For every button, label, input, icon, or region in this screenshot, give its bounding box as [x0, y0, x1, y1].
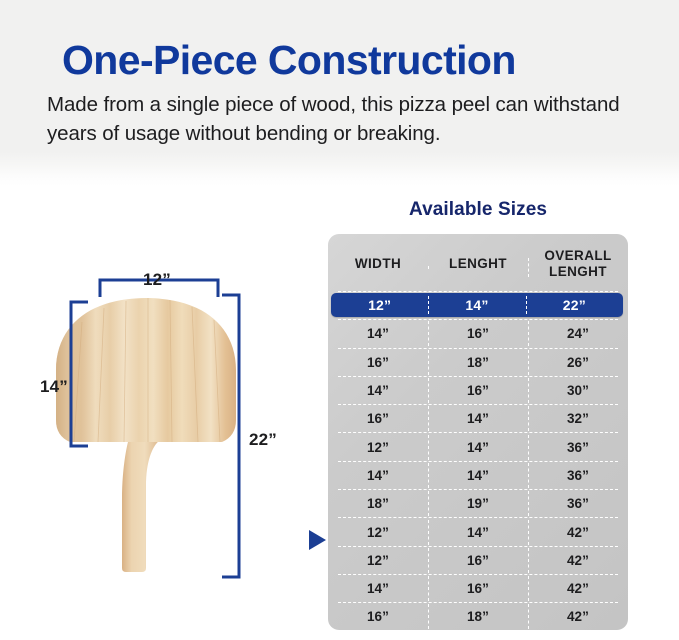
table-row-selected[interactable]: 12” 14” 22” [331, 293, 623, 317]
cell-width: 14” [328, 326, 428, 341]
cell-width: 16” [328, 411, 428, 426]
table-row[interactable]: 16” 18” 26” [328, 349, 628, 376]
cell-length: 16” [428, 581, 528, 596]
available-sizes-title: Available Sizes [328, 199, 628, 221]
table-row-highlight-wrap: 12” 14” 22” [328, 292, 628, 319]
cell-overall: 36” [528, 440, 628, 455]
table-header-row: WIDTH LENGHT OVERALL LENGHT [328, 234, 628, 291]
table-row[interactable]: 18” 19” 36” [328, 490, 628, 517]
sizes-table-card: WIDTH LENGHT OVERALL LENGHT 12” 14” 22” … [328, 234, 628, 630]
cell-overall: 22” [526, 297, 623, 313]
cell-length: 19” [428, 496, 528, 511]
column-header-overall-length: OVERALL LENGHT [528, 248, 628, 278]
product-illustration: 12” 14” 22” [0, 250, 310, 620]
cell-length: 14” [428, 440, 528, 455]
column-header-width: WIDTH [328, 256, 428, 271]
cell-width: 14” [328, 581, 428, 596]
cell-width: 14” [328, 468, 428, 483]
cell-length: 16” [428, 383, 528, 398]
cell-width: 12” [331, 297, 428, 313]
cell-width: 16” [328, 355, 428, 370]
infographic-page: One-Piece Construction Made from a singl… [0, 0, 679, 640]
cell-length: 14” [428, 297, 525, 313]
blade-length-dimension-label: 14” [40, 377, 68, 397]
cell-length: 14” [428, 468, 528, 483]
selected-row-pointer-icon [309, 530, 326, 550]
cell-length: 18” [428, 609, 528, 624]
table-row[interactable]: 18” 18” 42” [328, 632, 628, 640]
page-subtitle: Made from a single piece of wood, this p… [47, 90, 647, 148]
cell-overall: 42” [528, 609, 628, 624]
cell-length: 16” [428, 326, 528, 341]
table-row[interactable]: 12” 14” 42” [328, 518, 628, 545]
table-row[interactable]: 12” 16” 42” [328, 547, 628, 574]
column-header-length: LENGHT [428, 256, 528, 271]
cell-overall: 30” [528, 383, 628, 398]
table-row[interactable]: 16” 18” 42” [328, 603, 628, 630]
table-row[interactable]: 16” 14” 32” [328, 405, 628, 432]
peel-handle [122, 440, 160, 572]
table-row[interactable]: 14” 16” 30” [328, 377, 628, 404]
cell-width: 16” [328, 609, 428, 624]
table-row[interactable]: 14” 14” 36” [328, 462, 628, 489]
cell-width: 18” [328, 496, 428, 511]
cell-width: 14” [328, 383, 428, 398]
cell-width: 12” [328, 440, 428, 455]
cell-length: 14” [428, 411, 528, 426]
cell-overall: 42” [528, 525, 628, 540]
cell-overall: 36” [528, 468, 628, 483]
table-row[interactable]: 14” 16” 24” [328, 320, 628, 347]
cell-length: 18” [428, 355, 528, 370]
table-row[interactable]: 14” 16” 42” [328, 575, 628, 602]
cell-overall: 24” [528, 326, 628, 341]
cell-length: 14” [428, 525, 528, 540]
cell-overall: 36” [528, 496, 628, 511]
cell-overall: 42” [528, 553, 628, 568]
page-title: One-Piece Construction [62, 40, 662, 81]
overall-length-dimension-label: 22” [249, 430, 277, 450]
cell-overall: 32” [528, 411, 628, 426]
cell-overall: 42” [528, 581, 628, 596]
cell-length: 16” [428, 553, 528, 568]
cell-width: 12” [328, 525, 428, 540]
cell-overall: 26” [528, 355, 628, 370]
table-row[interactable]: 12” 14” 36” [328, 433, 628, 460]
width-dimension-label: 12” [143, 270, 171, 290]
cell-width: 12” [328, 553, 428, 568]
